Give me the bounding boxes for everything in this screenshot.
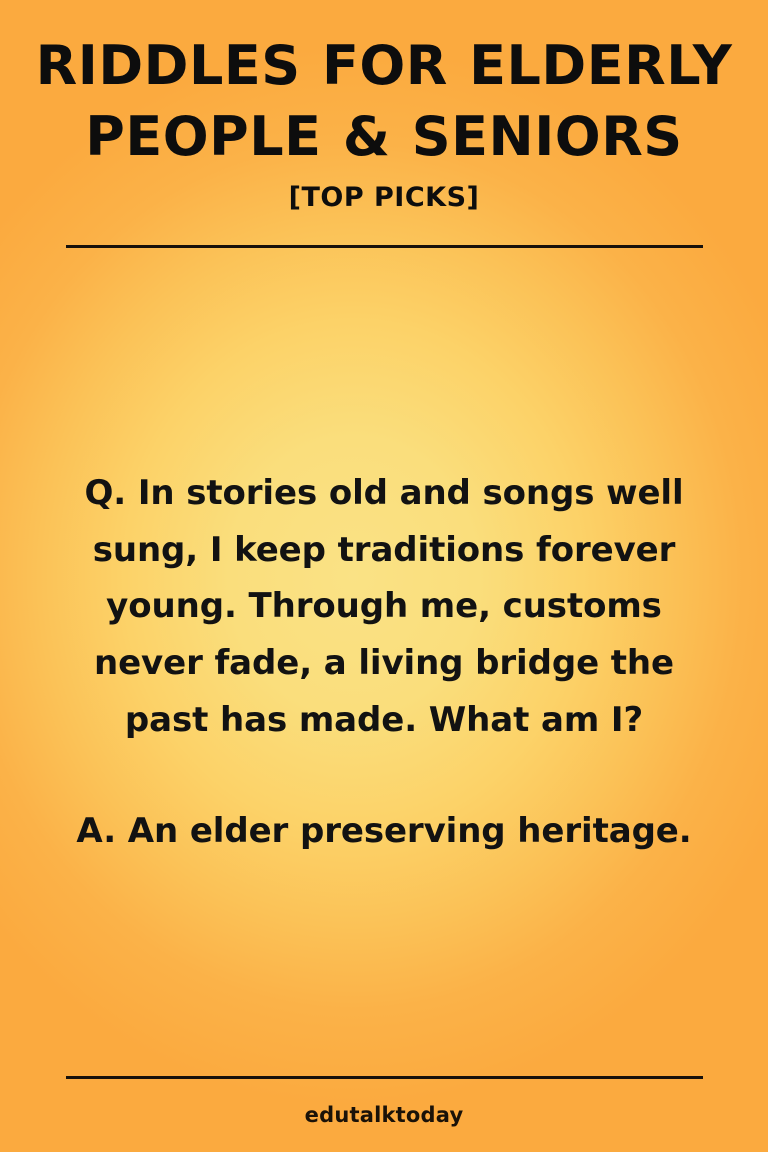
footer-block: edutalktoday: [0, 1076, 768, 1152]
page-subtitle: [TOP PICKS]: [30, 183, 738, 213]
brand-name: edutalktoday: [305, 1103, 464, 1127]
page-title: RIDDLES FOR ELDERLY PEOPLE & SENIORS: [30, 30, 738, 173]
riddle-question: Q. In stories old and songs well sung, I…: [56, 465, 712, 749]
riddle-poster: RIDDLES FOR ELDERLY PEOPLE & SENIORS [TO…: [0, 0, 768, 1152]
header-block: RIDDLES FOR ELDERLY PEOPLE & SENIORS [TO…: [0, 0, 768, 212]
riddle-answer: A. An elder preserving heritage.: [56, 803, 712, 860]
divider-bottom: [66, 1076, 703, 1079]
riddle-body: Q. In stories old and songs well sung, I…: [0, 248, 768, 1076]
